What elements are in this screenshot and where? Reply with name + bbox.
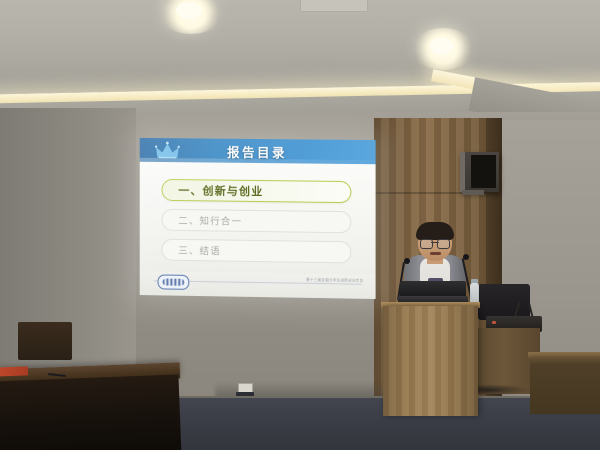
ceiling-downlight-1-core (176, 2, 202, 19)
footer-logo-mark (162, 278, 184, 285)
ceiling-vent (300, 0, 368, 12)
footer-logo (158, 274, 190, 289)
agenda-item-1-label: 一、创新与创业 (178, 182, 263, 199)
ceiling (0, 0, 600, 96)
microphone-head-2 (463, 254, 469, 260)
glasses-right-lens (437, 239, 450, 249)
chair (18, 322, 72, 360)
av-status-led (492, 321, 496, 324)
glasses-icon (420, 239, 450, 247)
left-wall (0, 108, 136, 408)
ceiling-downlight-2-core (430, 38, 454, 55)
agenda-item-2-label: 二、知行合一 (178, 213, 242, 228)
presenter-mouth (430, 252, 441, 255)
microphone-head-1 (404, 258, 410, 264)
agenda-list: 一、创新与创业 二、知行合一 三、结语 (162, 179, 352, 272)
red-folder (0, 366, 28, 376)
floor-cables (470, 384, 530, 396)
slide-header: 报告目录 (140, 138, 376, 164)
speaker-grille (471, 155, 496, 188)
slide-footer: 第十三届全国大学生创新创业年会 (140, 271, 376, 299)
slide-title: 报告目录 (140, 141, 376, 162)
glasses-left-lens (420, 239, 433, 249)
agenda-item-3[interactable]: 三、结语 (162, 239, 352, 264)
projected-slide: 报告目录 一、创新与创业 二、知行合一 三、结语 第十三届全国大学生创新创业年会 (140, 138, 376, 299)
agenda-item-2[interactable]: 二、知行合一 (162, 209, 352, 234)
agenda-item-3-label: 三、结语 (178, 243, 221, 258)
foreground-table-front (0, 374, 181, 450)
presentation-room-photo: 报告目录 一、创新与创业 二、知行合一 三、结语 第十三届全国大学生创新创业年会 (0, 0, 600, 450)
footer-note: 第十三届全国大学生创新创业年会 (306, 277, 363, 283)
av-equipment-dark (478, 284, 530, 320)
presenter-hair (416, 222, 454, 240)
slide-body: 一、创新与创业 二、知行合一 三、结语 (140, 162, 376, 275)
speaker-bracket (462, 190, 484, 195)
lectern (383, 306, 478, 416)
agenda-item-1[interactable]: 一、创新与创业 (162, 179, 352, 203)
side-table (530, 356, 600, 414)
wall-speaker (460, 152, 499, 192)
